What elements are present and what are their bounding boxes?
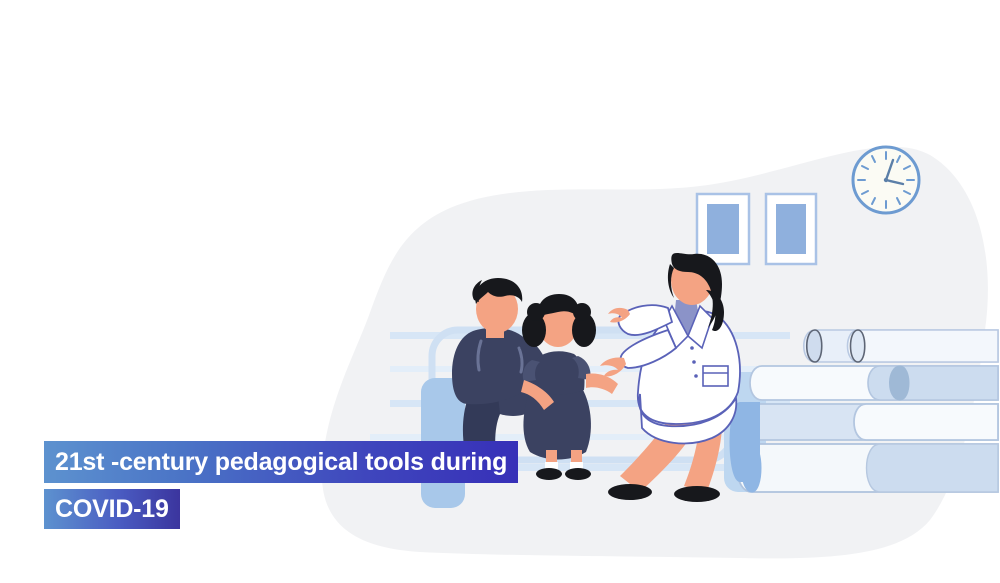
slide-canvas: 21st -century pedagogical tools during C… xyxy=(0,0,1000,583)
title-line-1: 21st -century pedagogical tools during xyxy=(44,441,518,483)
title-block: 21st -century pedagogical tools during C… xyxy=(44,441,518,529)
title-line-2: COVID-19 xyxy=(44,489,180,529)
picture-frame-left xyxy=(697,194,749,264)
wall-clock-icon xyxy=(853,147,919,213)
picture-frame-right xyxy=(766,194,816,264)
